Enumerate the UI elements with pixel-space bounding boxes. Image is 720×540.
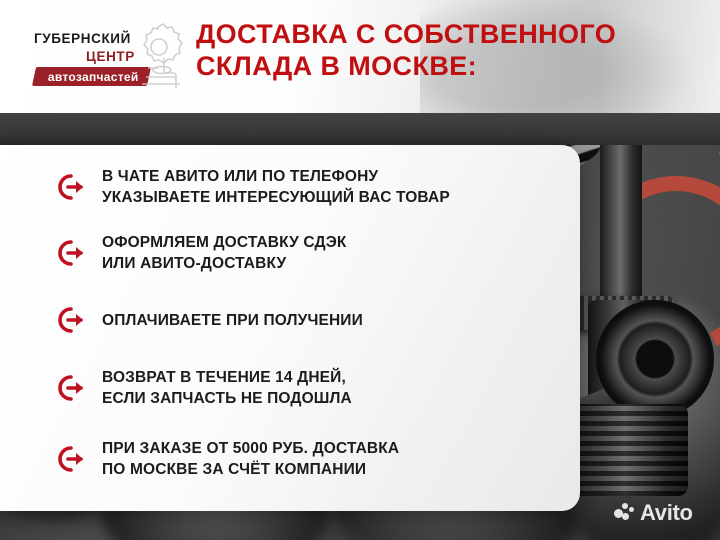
advertisement-banner: ГУБЕРНСКИЙ ЦЕНТР автозапчастей Доставка … bbox=[0, 0, 720, 540]
company-logo: ГУБЕРНСКИЙ ЦЕНТР автозапчастей bbox=[26, 22, 186, 94]
list-item: Возврат в течение 14 дней, если запчасть… bbox=[56, 352, 576, 424]
avito-wordmark: Avito bbox=[640, 503, 693, 523]
list-item-label: Возврат в течение 14 дней, если запчасть… bbox=[102, 367, 352, 409]
exit-arrow-icon bbox=[56, 167, 102, 207]
list-item: Оформляем доставку СДЭК или Авито-достав… bbox=[56, 218, 576, 288]
logo-line-2: ЦЕНТР bbox=[86, 49, 135, 64]
list-item-label: В чате Авито или по телефону указываете … bbox=[102, 166, 450, 208]
list-item-label: Оплачиваете при получении bbox=[102, 310, 363, 331]
exit-arrow-icon bbox=[56, 300, 102, 340]
exit-arrow-icon bbox=[56, 368, 102, 408]
page-title: Доставка с собственного склада в Москве: bbox=[196, 18, 696, 82]
avito-dots-icon bbox=[614, 503, 636, 523]
logo-ribbon: автозапчастей bbox=[32, 67, 151, 86]
header-band: ГУБЕРНСКИЙ ЦЕНТР автозапчастей Доставка … bbox=[0, 0, 720, 113]
list-item: Оплачиваете при получении bbox=[56, 288, 576, 352]
header-divider-bar bbox=[0, 113, 720, 145]
exit-arrow-icon bbox=[56, 233, 102, 273]
logo-line-1: ГУБЕРНСКИЙ bbox=[34, 31, 131, 46]
logo-ribbon-label: автозапчастей bbox=[48, 70, 139, 84]
list-item-label: При заказе от 5000 руб. доставка по Моск… bbox=[102, 438, 399, 480]
engine-part-outline-icon bbox=[134, 22, 186, 92]
benefits-list: В чате Авито или по телефону указываете … bbox=[56, 156, 576, 494]
list-item-label: Оформляем доставку СДЭК или Авито-достав… bbox=[102, 232, 347, 274]
list-item: В чате Авито или по телефону указываете … bbox=[56, 156, 576, 218]
exit-arrow-icon bbox=[56, 439, 102, 479]
avito-watermark: Avito bbox=[614, 503, 693, 523]
brake-disc bbox=[596, 300, 714, 418]
list-item: При заказе от 5000 руб. доставка по Моск… bbox=[56, 424, 576, 494]
